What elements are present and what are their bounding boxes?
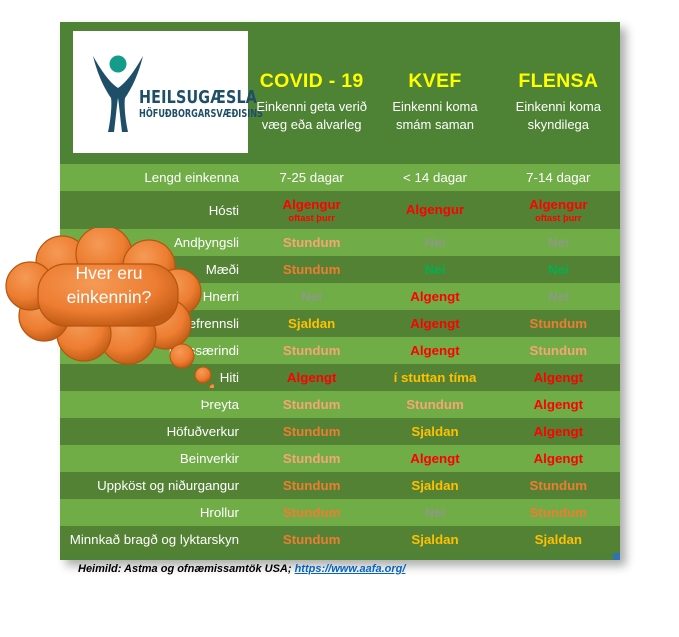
resize-handle[interactable] bbox=[613, 553, 620, 560]
table-cell: Algengt bbox=[497, 451, 620, 466]
column-header-kvef: KVEF Einkenni koma smám saman bbox=[373, 22, 496, 164]
row-label: Mæði bbox=[60, 262, 250, 277]
cell-value: Nei bbox=[373, 262, 496, 277]
row-label: Hnerri bbox=[60, 289, 250, 304]
table-cell: Stundum bbox=[250, 478, 373, 493]
cell-value: Nei bbox=[373, 235, 496, 250]
cell-value: Algengt bbox=[373, 316, 496, 331]
column-subtitle: Einkenni koma smám saman bbox=[373, 98, 496, 134]
cell-value: Stundum bbox=[250, 424, 373, 439]
cell-value: Nei bbox=[497, 262, 620, 277]
table-cell: Stundum bbox=[250, 451, 373, 466]
row-label: Uppköst og niðurgangur bbox=[60, 478, 250, 493]
source-link[interactable]: https://www.aafa.org/ bbox=[295, 563, 406, 575]
table-row: HóstiAlgenguroftast þurrAlgengurAlgengur… bbox=[60, 191, 620, 229]
table-row: BeinverkirStundumAlgengtAlgengt bbox=[60, 445, 620, 472]
cell-value: Stundum bbox=[497, 316, 620, 331]
column-title: COVID - 19 bbox=[250, 70, 373, 93]
table-cell: Stundum bbox=[250, 397, 373, 412]
cell-value: Stundum bbox=[250, 451, 373, 466]
table-cell: Stundum bbox=[250, 235, 373, 250]
table-cell: Stundum bbox=[250, 532, 373, 547]
symptom-table: Lengd einkenna7-25 dagar< 14 dagar7-14 d… bbox=[60, 164, 620, 553]
comparison-table-panel: HEILSUGÆSLA HÖFUÐBORGARSVÆÐISINS COVID -… bbox=[60, 22, 620, 560]
logo-line-2: HÖFUÐBORGARSVÆÐISINS bbox=[139, 110, 263, 120]
row-label: Beinverkir bbox=[60, 451, 250, 466]
row-label: Hiti bbox=[60, 370, 250, 385]
cell-value: Stundum bbox=[250, 262, 373, 277]
table-cell: Algengt bbox=[497, 370, 620, 385]
cell-value: 7-14 dagar bbox=[497, 170, 620, 185]
table-cell: Sjaldan bbox=[250, 316, 373, 331]
column-subtitle: Einkenni koma skyndilega bbox=[497, 98, 620, 134]
cell-value: Algengt bbox=[497, 397, 620, 412]
table-row: Lengd einkenna7-25 dagar< 14 dagar7-14 d… bbox=[60, 164, 620, 191]
cell-value: < 14 dagar bbox=[373, 170, 496, 185]
table-cell: Algengt bbox=[373, 343, 496, 358]
table-cell: Nei bbox=[373, 262, 496, 277]
table-cell: Nei bbox=[497, 262, 620, 277]
table-row: MæðiStundumNeiNei bbox=[60, 256, 620, 283]
table-cell: Stundum bbox=[497, 316, 620, 331]
table-cell: Algengt bbox=[373, 316, 496, 331]
table-cell: Nei bbox=[497, 289, 620, 304]
table-cell: Algengt bbox=[250, 370, 373, 385]
table-cell: Algengt bbox=[497, 424, 620, 439]
slide-canvas: HEILSUGÆSLA HÖFUÐBORGARSVÆÐISINS COVID -… bbox=[0, 0, 679, 637]
table-row: HrollurStundumNeiStundum bbox=[60, 499, 620, 526]
cell-value: Stundum bbox=[497, 478, 620, 493]
row-label: Andþyngsli bbox=[60, 235, 250, 250]
cell-value: Stundum bbox=[250, 478, 373, 493]
table-cell: Stundum bbox=[497, 343, 620, 358]
table-cell: Sjaldan bbox=[373, 424, 496, 439]
cell-value: Algengur bbox=[250, 197, 373, 212]
table-cell: Stundum bbox=[250, 424, 373, 439]
table-row: Minnkað bragð og lyktarskynStundumSjalda… bbox=[60, 526, 620, 553]
table-cell: < 14 dagar bbox=[373, 170, 496, 185]
table-row: HálssærindiStundumAlgengtStundum bbox=[60, 337, 620, 364]
table-cell: 7-25 dagar bbox=[250, 170, 373, 185]
table-cell: Stundum bbox=[373, 397, 496, 412]
table-cell: Algengt bbox=[497, 397, 620, 412]
cell-value: Stundum bbox=[250, 532, 373, 547]
table-cell: Stundum bbox=[250, 505, 373, 520]
table-cell: Algengur bbox=[373, 202, 496, 217]
cell-subvalue: oftast þurr bbox=[250, 213, 373, 224]
column-header-covid: COVID - 19 Einkenni geta verið væg eða a… bbox=[250, 22, 373, 164]
column-headers: COVID - 19 Einkenni geta verið væg eða a… bbox=[250, 22, 620, 164]
table-cell: Algengt bbox=[373, 451, 496, 466]
table-cell: Nei bbox=[250, 289, 373, 304]
cell-value: Stundum bbox=[250, 397, 373, 412]
cell-value: Algengur bbox=[373, 202, 496, 217]
cell-value: Sjaldan bbox=[250, 316, 373, 331]
cell-value: Algengt bbox=[497, 370, 620, 385]
cell-value: Algengt bbox=[373, 289, 496, 304]
table-row: NefrennsliSjaldanAlgengtStundum bbox=[60, 310, 620, 337]
cell-value: Stundum bbox=[373, 397, 496, 412]
table-cell: Stundum bbox=[497, 505, 620, 520]
cell-value: Algengt bbox=[497, 451, 620, 466]
source-prefix: Heimild: Astma og ofnæmissamtök USA; bbox=[78, 563, 295, 575]
cell-subvalue: oftast þurr bbox=[497, 213, 620, 224]
table-cell: í stuttan tíma bbox=[373, 370, 496, 385]
table-cell: Stundum bbox=[250, 262, 373, 277]
table-cell: Algenguroftast þurr bbox=[497, 197, 620, 224]
cell-value: Nei bbox=[250, 289, 373, 304]
row-label: Nefrennsli bbox=[60, 316, 250, 331]
cell-value: Nei bbox=[497, 235, 620, 250]
column-title: FLENSA bbox=[497, 70, 620, 93]
cell-value: Algengt bbox=[497, 424, 620, 439]
cell-value: Nei bbox=[373, 505, 496, 520]
column-title: KVEF bbox=[373, 70, 496, 93]
cell-value: Stundum bbox=[250, 235, 373, 250]
table-cell: Stundum bbox=[497, 478, 620, 493]
table-cell: Nei bbox=[497, 235, 620, 250]
cell-value: Algengt bbox=[373, 451, 496, 466]
column-header-flensa: FLENSA Einkenni koma skyndilega bbox=[497, 22, 620, 164]
table-cell: Algenguroftast þurr bbox=[250, 197, 373, 224]
row-label: Hálssærindi bbox=[60, 343, 250, 358]
organization-logo: HEILSUGÆSLA HÖFUÐBORGARSVÆÐISINS bbox=[73, 31, 248, 153]
table-cell: Sjaldan bbox=[373, 532, 496, 547]
table-row: AndþyngsliStundumNeiNei bbox=[60, 229, 620, 256]
table-row: ÞreytaStundumStundumAlgengt bbox=[60, 391, 620, 418]
logo-line-1: HEILSUGÆSLA bbox=[139, 90, 266, 108]
table-cell: Nei bbox=[373, 505, 496, 520]
column-subtitle: Einkenni geta verið væg eða alvarleg bbox=[250, 98, 373, 134]
row-label: Þreyta bbox=[60, 397, 250, 412]
cell-value: í stuttan tíma bbox=[373, 370, 496, 385]
cell-value: Algengur bbox=[497, 197, 620, 212]
row-label: Hrollur bbox=[60, 505, 250, 520]
table-header: HEILSUGÆSLA HÖFUÐBORGARSVÆÐISINS COVID -… bbox=[60, 22, 620, 164]
table-cell: Algengt bbox=[373, 289, 496, 304]
cell-value: Sjaldan bbox=[497, 532, 620, 547]
table-cell: Sjaldan bbox=[497, 532, 620, 547]
cell-value: Stundum bbox=[250, 343, 373, 358]
cell-value: Sjaldan bbox=[373, 478, 496, 493]
row-label: Hósti bbox=[60, 203, 250, 218]
row-label: Höfuðverkur bbox=[60, 424, 250, 439]
source-caption: Heimild: Astma og ofnæmissamtök USA; htt… bbox=[78, 563, 405, 575]
table-cell: Sjaldan bbox=[373, 478, 496, 493]
cell-value: Nei bbox=[497, 289, 620, 304]
table-cell: 7-14 dagar bbox=[497, 170, 620, 185]
cell-value: Algengt bbox=[250, 370, 373, 385]
cell-value: Sjaldan bbox=[373, 424, 496, 439]
cell-value: Stundum bbox=[497, 505, 620, 520]
cell-value: Algengt bbox=[373, 343, 496, 358]
table-row: HöfuðverkurStundumSjaldanAlgengt bbox=[60, 418, 620, 445]
table-row: HitiAlgengtí stuttan tímaAlgengt bbox=[60, 364, 620, 391]
table-row: HnerriNeiAlgengtNei bbox=[60, 283, 620, 310]
cell-value: Sjaldan bbox=[373, 532, 496, 547]
row-label: Lengd einkenna bbox=[60, 170, 250, 185]
cell-value: Stundum bbox=[250, 505, 373, 520]
row-label: Minnkað bragð og lyktarskyn bbox=[60, 532, 250, 547]
cell-value: Stundum bbox=[497, 343, 620, 358]
table-row: Uppköst og niðurgangurStundumSjaldanStun… bbox=[60, 472, 620, 499]
table-cell: Nei bbox=[373, 235, 496, 250]
table-cell: Stundum bbox=[250, 343, 373, 358]
cell-value: 7-25 dagar bbox=[250, 170, 373, 185]
